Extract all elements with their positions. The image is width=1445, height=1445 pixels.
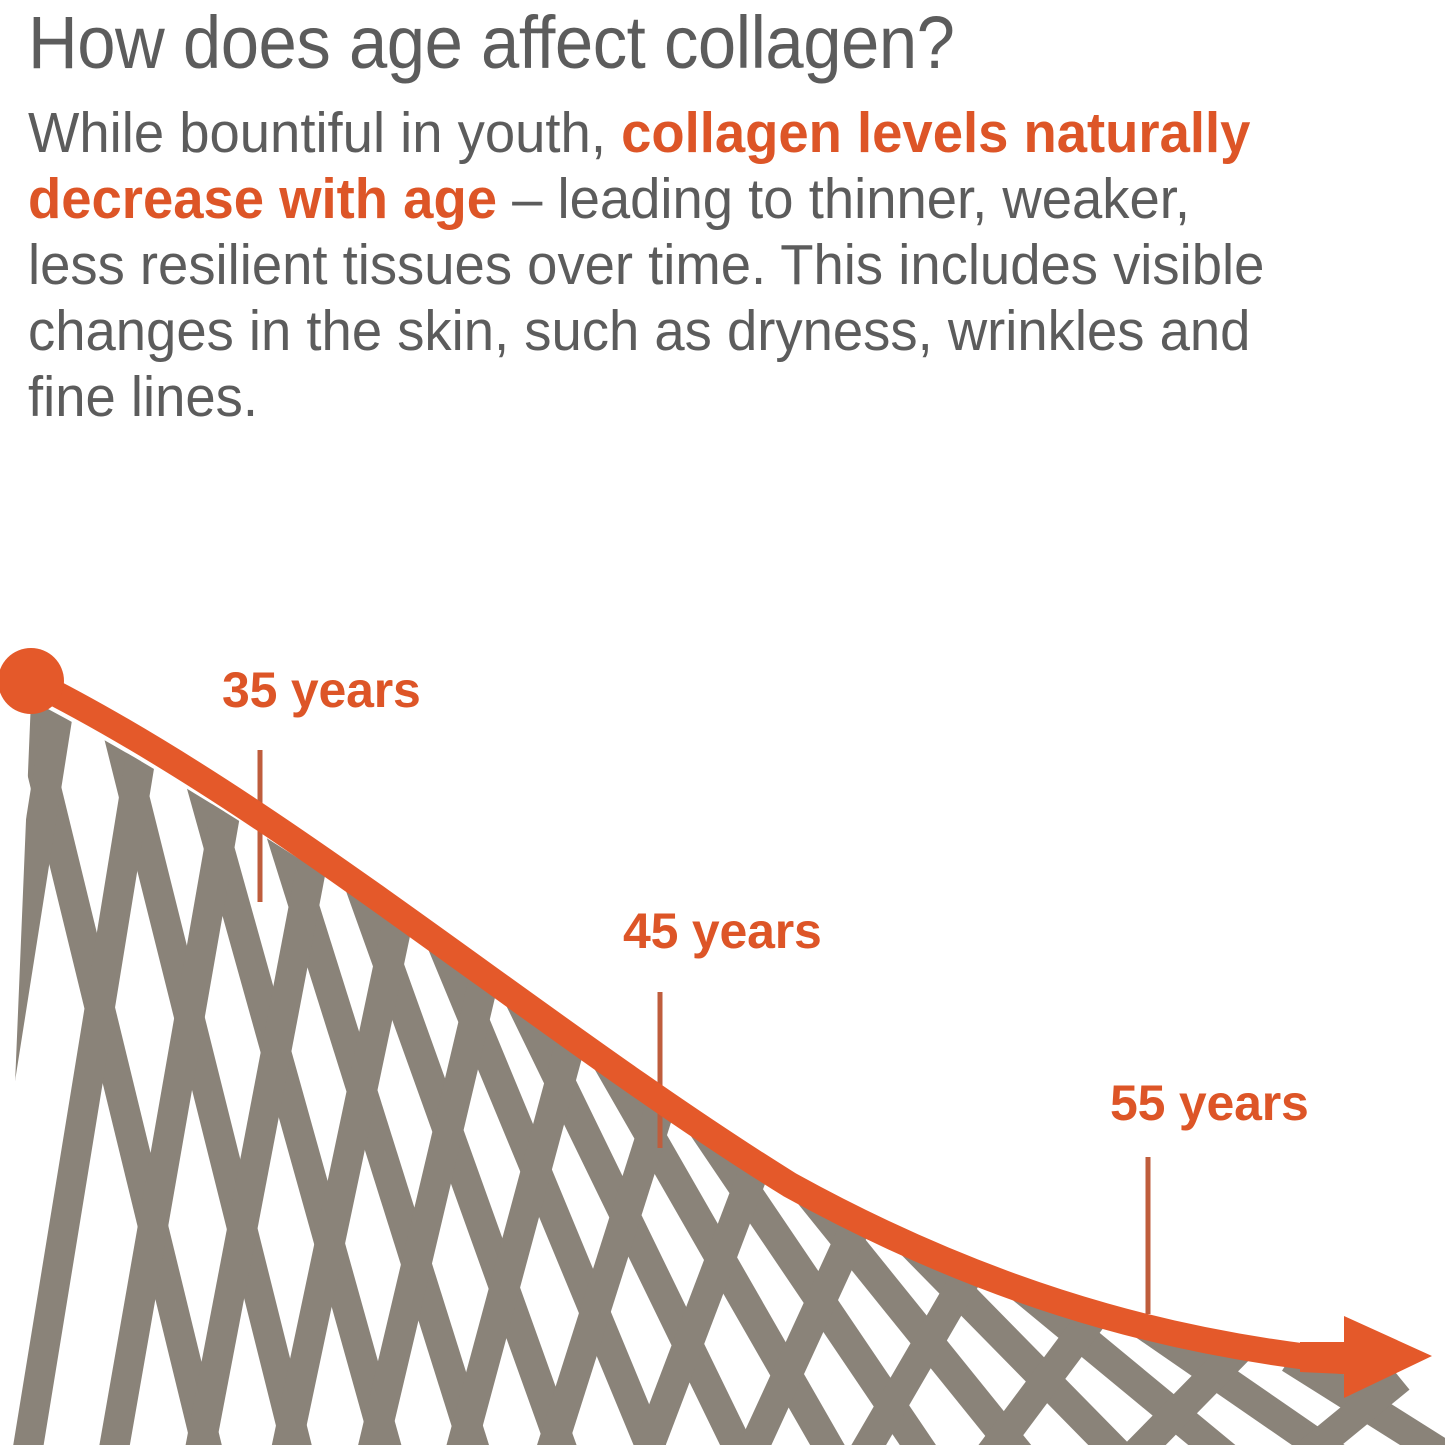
body-paragraph: While bountiful in youth, collagen level… (28, 100, 1298, 431)
intro-text-block: How does age affect collagen? While boun… (28, 4, 1418, 430)
collagen-fibre-mesh (0, 640, 1445, 1445)
page-title: How does age affect collagen? (28, 4, 1321, 82)
body-text-part-1: While bountiful in youth, (28, 101, 621, 165)
annotation-label-45-years: 45 years (623, 902, 822, 960)
collagen-age-infographic: 35 years 45 years 55 years How does age … (0, 0, 1445, 1445)
curve-start-dot (0, 648, 64, 714)
annotation-label-55-years: 55 years (1110, 1074, 1309, 1132)
annotation-label-35-years: 35 years (222, 661, 421, 719)
